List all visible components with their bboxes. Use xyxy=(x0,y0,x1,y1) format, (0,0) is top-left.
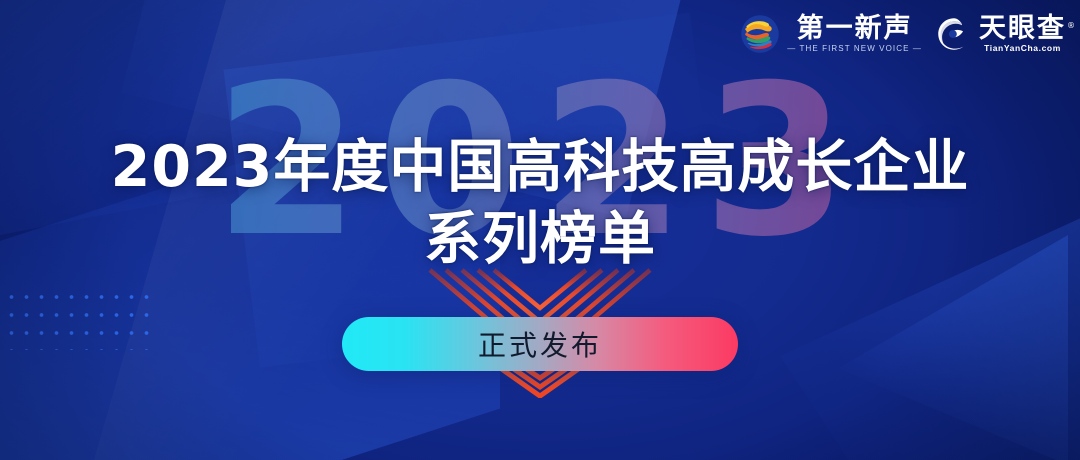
swirl-globe-icon xyxy=(740,14,780,54)
promo-banner: 2023 2023年度中国高科技高成长企 xyxy=(0,0,1080,460)
logo-diyixinsheng-tagline: — THE FIRST NEW VOICE — xyxy=(787,43,922,54)
logo-diyixinsheng[interactable]: 第一新声 — THE FIRST NEW VOICE — xyxy=(740,14,922,54)
title-line-2: 系列榜单 xyxy=(0,204,1080,274)
title-line-1: 2023年度中国高科技高成长企业 xyxy=(0,132,1080,202)
logo-tianyancha-name: 天眼查 ® xyxy=(979,14,1066,43)
logo-tianyancha[interactable]: 天眼查 ® TianYanCha.com xyxy=(936,14,1066,54)
dot-grid-pattern xyxy=(4,288,152,350)
logo-tianyancha-text: 天眼查 ® TianYanCha.com xyxy=(979,14,1066,54)
logo-tianyancha-tagline: TianYanCha.com xyxy=(984,43,1061,54)
registered-trademark-mark: ® xyxy=(1067,11,1075,40)
banner-title: 2023年度中国高科技高成长企业 系列榜单 xyxy=(0,132,1080,274)
aperture-eye-icon xyxy=(936,16,972,52)
release-status-pill[interactable]: 正式发布 xyxy=(342,317,738,371)
logo-group: 第一新声 — THE FIRST NEW VOICE — 天眼查 ® TianY… xyxy=(740,14,1066,54)
logo-diyixinsheng-text: 第一新声 — THE FIRST NEW VOICE — xyxy=(787,14,922,54)
logo-diyixinsheng-name: 第一新声 xyxy=(797,14,913,43)
release-status-label: 正式发布 xyxy=(478,324,602,364)
logo-tianyancha-name-text: 天眼查 xyxy=(979,13,1066,44)
